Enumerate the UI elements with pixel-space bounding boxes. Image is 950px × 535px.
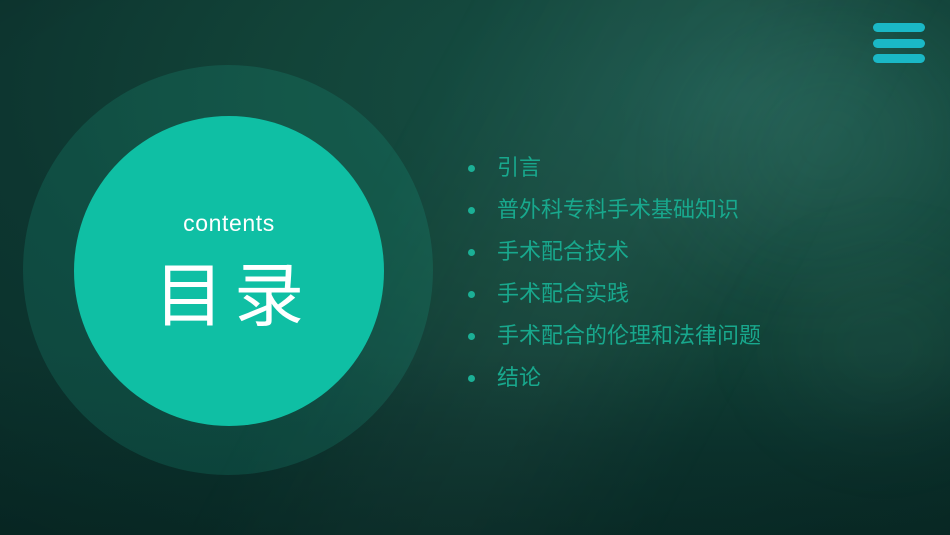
toc-item-label: 引言 (497, 157, 541, 179)
toc-item-label: 结论 (497, 367, 541, 389)
hamburger-bar-middle (873, 39, 925, 48)
contents-circle-text-group: contents 目录 (74, 116, 384, 426)
bullet-icon (468, 249, 475, 256)
bullet-icon (468, 375, 475, 382)
toc-item-1[interactable]: 引言 (468, 147, 898, 189)
bullet-icon (468, 207, 475, 214)
toc-item-label: 普外科专科手术基础知识 (497, 199, 739, 221)
hamburger-bar-top (873, 23, 925, 32)
hamburger-menu-icon[interactable] (873, 23, 925, 63)
toc-item-6[interactable]: 结论 (468, 357, 898, 399)
toc-item-label: 手术配合的伦理和法律问题 (497, 325, 761, 347)
toc-item-2[interactable]: 普外科专科手术基础知识 (468, 189, 898, 231)
bullet-icon (468, 333, 475, 340)
table-of-contents-list: 引言 普外科专科手术基础知识 手术配合技术 手术配合实践 手术配合的伦理和法律问… (468, 147, 898, 399)
bullet-icon (468, 165, 475, 172)
contents-eyebrow-label: contents (183, 212, 275, 235)
hamburger-bar-bottom (873, 54, 925, 63)
toc-item-3[interactable]: 手术配合技术 (468, 231, 898, 273)
toc-item-4[interactable]: 手术配合实践 (468, 273, 898, 315)
presentation-slide: contents 目录 引言 普外科专科手术基础知识 手术配合技术 手术配合实践… (0, 0, 950, 535)
contents-title-cjk: 目录 (144, 261, 314, 331)
toc-item-label: 手术配合技术 (497, 241, 629, 263)
toc-item-5[interactable]: 手术配合的伦理和法律问题 (468, 315, 898, 357)
toc-item-label: 手术配合实践 (497, 283, 629, 305)
bullet-icon (468, 291, 475, 298)
